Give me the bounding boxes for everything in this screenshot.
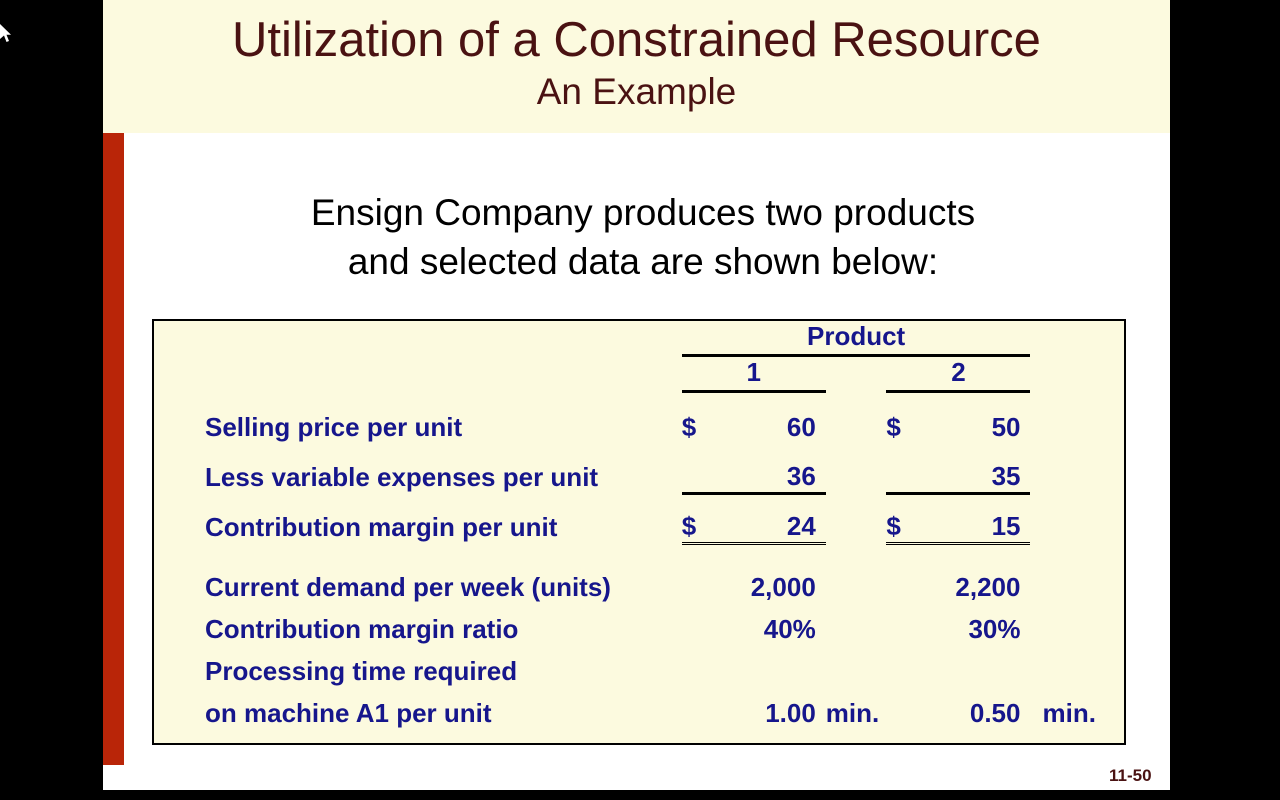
row-gap	[826, 645, 887, 687]
row-value-2: 35	[920, 443, 1030, 493]
row-unit	[1030, 443, 1128, 493]
column-header-2: 2	[886, 357, 1030, 390]
table-row: Contribution margin per unit $ 24 $ 15	[154, 493, 1128, 543]
row-unit	[1030, 603, 1128, 645]
table-group-header-row: Product	[154, 321, 1128, 354]
row-currency-1	[682, 687, 716, 729]
title-banner: Utilization of a Constrained Resource An…	[103, 0, 1170, 133]
intro-line-2: and selected data are shown below:	[163, 237, 1123, 286]
row-label: Contribution margin ratio	[154, 603, 682, 645]
row-label: on machine A1 per unit	[154, 687, 682, 729]
row-value-1	[715, 645, 825, 687]
row-currency-1	[682, 561, 716, 603]
table-row: Less variable expenses per unit 36 35	[154, 443, 1128, 493]
row-label: Contribution margin per unit	[154, 493, 682, 543]
group-header-unit-spacer	[1030, 321, 1128, 354]
row-unit	[1030, 493, 1128, 543]
row-currency-1: $	[682, 493, 716, 543]
table-row: Current demand per week (units) 2,000 2,…	[154, 561, 1128, 603]
row-currency-2	[886, 687, 920, 729]
table-row: Selling price per unit $ 60 $ 50	[154, 393, 1128, 443]
row-currency-2: $	[886, 393, 920, 443]
row-value-2: 15	[920, 493, 1030, 543]
page-number: 11-50	[1109, 766, 1152, 786]
row-currency-1: $	[682, 393, 716, 443]
column-header-1: 1	[682, 357, 826, 390]
row-gap	[826, 561, 887, 603]
row-currency-1	[682, 443, 716, 493]
slide-canvas: Utilization of a Constrained Resource An…	[103, 0, 1170, 790]
row-unit	[1030, 393, 1128, 443]
row-unit-2: min.	[1030, 687, 1128, 729]
row-label: Selling price per unit	[154, 393, 682, 443]
row-value-2: 50	[920, 393, 1030, 443]
row-value-1: 40%	[715, 603, 825, 645]
row-currency-1	[682, 603, 716, 645]
product-data-table: Product 1 2	[154, 321, 1128, 729]
row-label: Processing time required	[154, 645, 682, 687]
group-header-spacer	[154, 321, 682, 354]
row-gap	[826, 493, 887, 543]
table-spacer	[154, 543, 1128, 561]
group-header-product: Product	[682, 321, 1031, 354]
page-subtitle: An Example	[103, 68, 1170, 114]
column-header-gap	[826, 357, 887, 390]
row-unit	[1030, 561, 1128, 603]
intro-line-1: Ensign Company produces two products	[163, 188, 1123, 237]
row-value-1: 60	[715, 393, 825, 443]
row-currency-2	[886, 603, 920, 645]
slide-viewer: Utilization of a Constrained Resource An…	[0, 0, 1280, 800]
row-value-2: 0.50	[920, 687, 1030, 729]
row-gap	[826, 393, 887, 443]
table-row: Contribution margin ratio 40% 30%	[154, 603, 1128, 645]
row-value-1: 1.00	[715, 687, 825, 729]
page-title: Utilization of a Constrained Resource	[103, 0, 1170, 68]
table-spacer-row	[154, 543, 1128, 561]
row-unit	[1030, 645, 1128, 687]
row-gap	[826, 443, 887, 493]
row-value-2	[920, 645, 1030, 687]
row-value-2: 30%	[920, 603, 1030, 645]
table-row: Processing time required	[154, 645, 1128, 687]
row-label: Current demand per week (units)	[154, 561, 682, 603]
row-currency-2	[886, 443, 920, 493]
row-label: Less variable expenses per unit	[154, 443, 682, 493]
row-gap	[826, 603, 887, 645]
column-header-spacer	[154, 357, 682, 390]
row-value-1: 2,000	[715, 561, 825, 603]
table-column-header-row: 1 2	[154, 357, 1128, 390]
row-currency-2	[886, 645, 920, 687]
data-table-panel: Product 1 2	[152, 319, 1126, 745]
row-unit-1: min.	[826, 687, 887, 729]
row-currency-2: $	[886, 493, 920, 543]
row-value-1: 24	[715, 493, 825, 543]
row-value-2: 2,200	[920, 561, 1030, 603]
column-header-unit-spacer	[1030, 357, 1128, 390]
accent-bar	[103, 133, 124, 765]
intro-text: Ensign Company produces two products and…	[163, 188, 1123, 286]
row-value-1: 36	[715, 443, 825, 493]
table-row: on machine A1 per unit 1.00 min. 0.50 mi…	[154, 687, 1128, 729]
row-currency-2	[886, 561, 920, 603]
row-currency-1	[682, 645, 716, 687]
mouse-cursor-icon	[0, 24, 14, 44]
